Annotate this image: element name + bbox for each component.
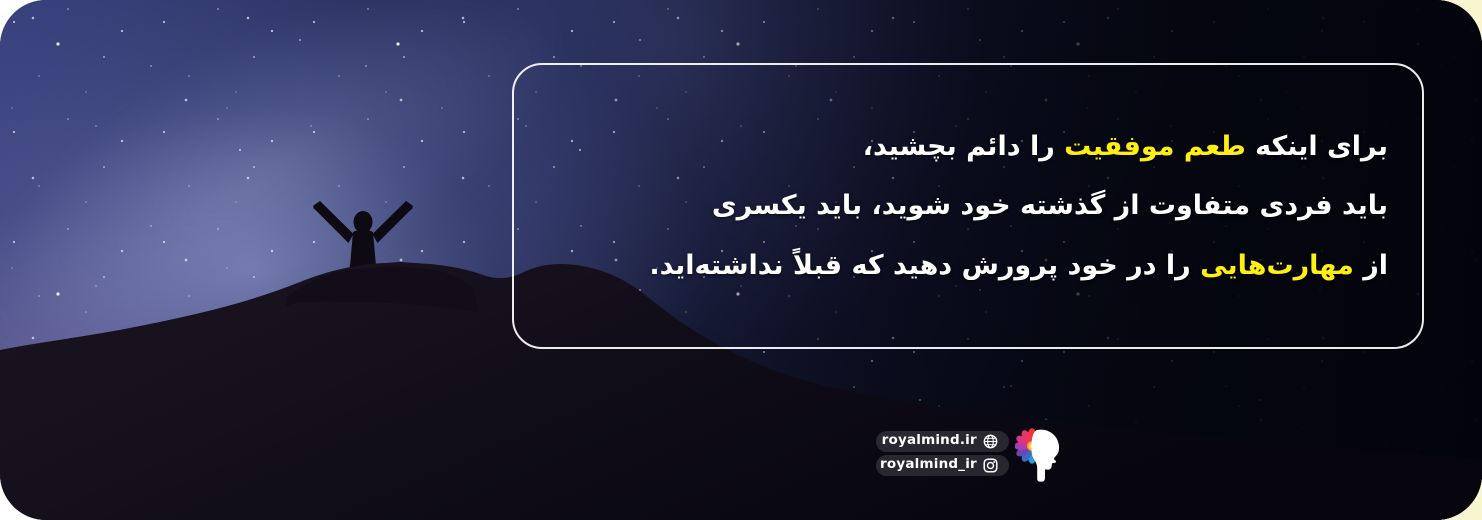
watermark: royalmind.ir royalmind_ir (876, 424, 1067, 482)
quote-line-1-segment-3: را دائم بچشید، (863, 131, 1064, 162)
quote-line-2: باید فردی متفاوت از گذشته خود شوید، باید… (548, 185, 1388, 226)
quote-line-1-highlight: طعم موفقیت (1064, 131, 1246, 162)
globe-icon (983, 434, 998, 449)
website-handle-pill[interactable]: royalmind.ir (876, 431, 1009, 452)
quote-line-1: برای اینکه طعم موفقیت را دائم بچشید، (548, 126, 1388, 167)
website-handle-text: royalmind.ir (882, 434, 977, 448)
quote-line-1-segment-1: برای اینکه (1246, 131, 1388, 162)
quote-line-2-segment-1: باید فردی متفاوت از گذشته خود شوید، باید… (712, 190, 1388, 221)
quote-line-3: از مهارت‌هایی را در خود پرورش دهید که قب… (548, 245, 1388, 286)
quote-line-3-segment-1: از (1354, 250, 1388, 281)
instagram-icon (983, 458, 998, 473)
quote-line-3-segment-3: را در خود پرورش دهید که قبلاً نداشته‌اید… (649, 250, 1200, 281)
quote-line-3-highlight: مهارت‌هایی (1200, 250, 1354, 281)
quote-banner-card: برای اینکه طعم موفقیت را دائم بچشید، بای… (0, 0, 1482, 520)
social-handles: royalmind.ir royalmind_ir (876, 431, 1009, 476)
royalmind-brain-head-logo-icon (1015, 424, 1067, 482)
instagram-handle-pill[interactable]: royalmind_ir (876, 455, 1009, 476)
quote-text-box: برای اینکه طعم موفقیت را دائم بچشید، بای… (512, 63, 1424, 349)
instagram-handle-text: royalmind_ir (880, 458, 977, 472)
